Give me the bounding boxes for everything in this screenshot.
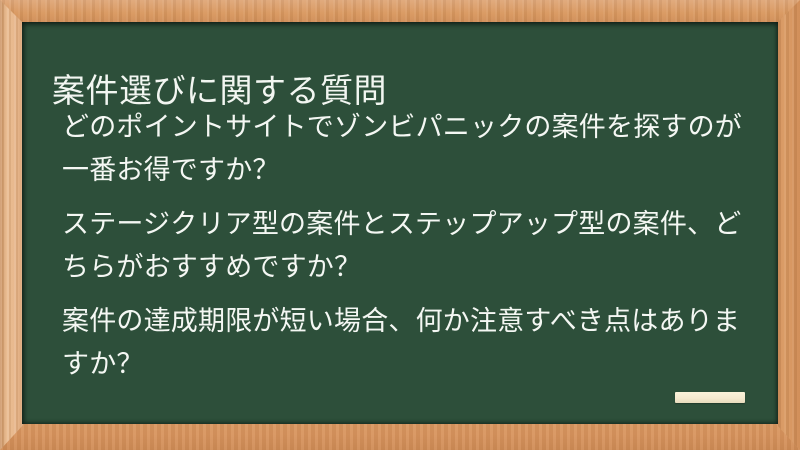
question-item: 案件の達成期限が短い場合、何か注意すべき点はありますか？ <box>58 300 760 386</box>
question-item: どのポイントサイトでゾンビパニックの案件を探すのが一番お得ですか？ <box>58 106 760 192</box>
blackboard-panel: 案件選びに関する質問 どのポイントサイトでゾンビパニックの案件を探すのが一番お得… <box>0 0 800 450</box>
wood-frame-left <box>0 0 24 450</box>
wood-frame-bottom <box>0 424 800 450</box>
question-list: どのポイントサイトでゾンビパニックの案件を探すのが一番お得ですか？ ステージクリ… <box>58 106 760 386</box>
wood-frame-right <box>776 0 800 450</box>
question-item: ステージクリア型の案件とステップアップ型の案件、どちらがおすすめですか？ <box>58 203 760 289</box>
chalkboard-surface: 案件選びに関する質問 どのポイントサイトでゾンビパニックの案件を探すのが一番お得… <box>22 22 778 424</box>
wood-frame-top <box>0 0 800 24</box>
chalk-stick-icon <box>675 392 745 403</box>
